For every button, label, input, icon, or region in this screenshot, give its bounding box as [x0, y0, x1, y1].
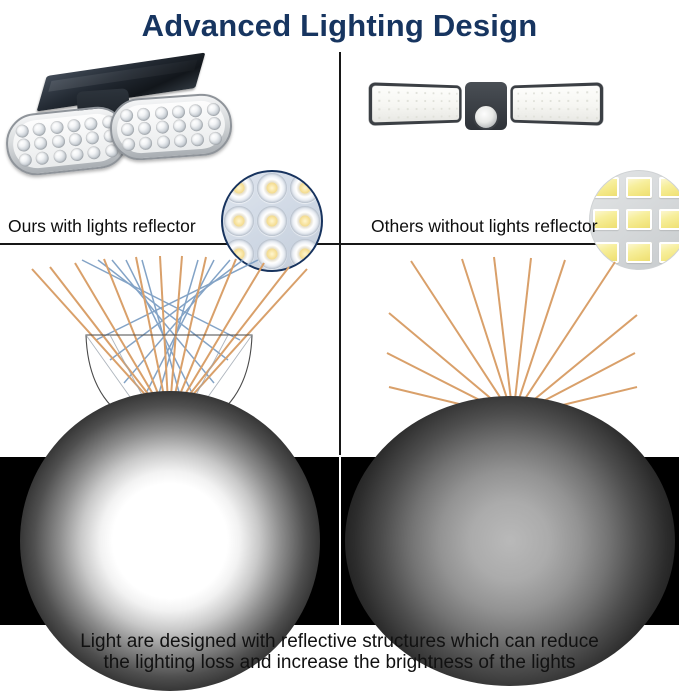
dual-head-solar-light-image — [6, 62, 221, 187]
motion-sensor-icon — [473, 104, 499, 130]
lamp-head-right-leds — [115, 99, 226, 154]
led-dome — [138, 122, 152, 136]
cell-ours-product: Ours with lights reflector — [0, 52, 339, 243]
led-dome — [87, 146, 101, 160]
led-dome — [36, 151, 50, 165]
led-dome — [172, 105, 186, 119]
led-wing-right — [510, 82, 603, 126]
flat-panel-light-image — [371, 82, 601, 144]
led-dome — [70, 148, 84, 162]
smd-chip — [593, 177, 619, 198]
bottom-caption-line-1: Light are designed with reflective struc… — [80, 631, 599, 652]
led-dome — [208, 132, 222, 146]
bottom-caption-line-2: the lighting loss and increase the brigh… — [103, 652, 575, 673]
led-dome — [121, 123, 135, 137]
led-dome — [174, 134, 188, 148]
led-dome — [84, 117, 98, 131]
led-dome — [139, 136, 153, 150]
led-dome — [120, 108, 134, 122]
led-dome — [191, 133, 205, 147]
led-dome — [207, 117, 221, 131]
reflector-cup — [257, 173, 287, 203]
lamp-head-right — [108, 92, 234, 162]
led-dot-array — [515, 88, 598, 120]
beam-photo-others — [341, 457, 679, 625]
caption-others: Others without lights reflector — [341, 216, 679, 237]
led-dome — [68, 133, 82, 147]
led-dome — [156, 135, 170, 149]
led-dome — [173, 119, 187, 133]
led-dome — [155, 121, 169, 135]
led-dome — [67, 118, 81, 132]
led-dome — [17, 138, 31, 152]
led-dome — [137, 107, 151, 121]
led-dome — [51, 135, 65, 149]
led-dome — [50, 120, 64, 134]
beam-photo-ours — [0, 457, 339, 625]
direct-rays — [387, 257, 637, 417]
page-title: Advanced Lighting Design — [142, 8, 538, 44]
led-dome — [53, 149, 67, 163]
infographic-page: Advanced Lighting Design — [0, 0, 679, 678]
lamp-head-left-leds — [11, 111, 123, 170]
panel-body — [371, 82, 601, 128]
smd-chip — [659, 177, 679, 198]
led-dome — [32, 122, 46, 136]
led-dome — [190, 118, 204, 132]
smd-chip — [626, 177, 652, 198]
led-dome — [122, 138, 136, 152]
led-dome — [86, 131, 100, 145]
reflector-cup — [224, 173, 254, 203]
cell-others-product: Others without lights reflector — [341, 52, 679, 243]
led-wing-left — [369, 82, 462, 126]
led-dome — [206, 102, 220, 116]
reflector-cup — [290, 173, 320, 203]
led-dome — [15, 124, 29, 138]
caption-ours: Ours with lights reflector — [0, 216, 339, 237]
led-dome — [34, 137, 48, 151]
led-dot-array — [374, 88, 457, 120]
bottom-caption: Light are designed with reflective struc… — [0, 626, 679, 678]
led-dome — [18, 153, 32, 167]
led-dome — [154, 106, 168, 120]
led-dome — [189, 104, 203, 118]
title-bar: Advanced Lighting Design — [0, 0, 679, 52]
